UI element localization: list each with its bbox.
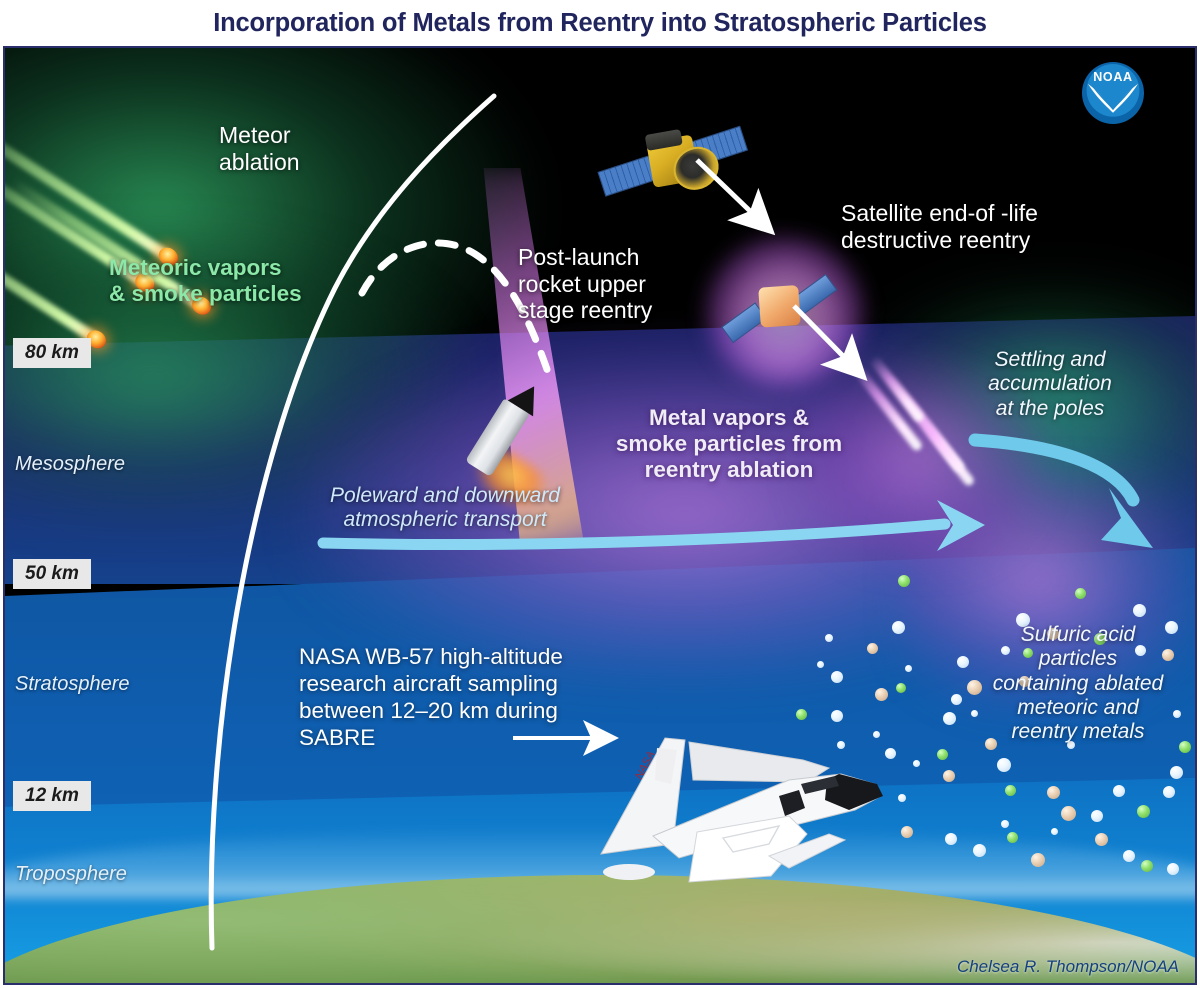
particle [937, 749, 948, 760]
layer-label-troposphere: Troposphere [15, 863, 127, 886]
particle [1031, 853, 1045, 867]
particle [1179, 741, 1191, 753]
particle [1133, 604, 1146, 617]
particle [885, 748, 896, 759]
particle [905, 665, 912, 672]
particle [1095, 833, 1108, 846]
particle [831, 671, 843, 683]
particle [951, 694, 962, 705]
particle [1123, 850, 1135, 862]
particle [945, 833, 957, 845]
title-bar: Incorporation of Metals from Reentry int… [0, 0, 1200, 46]
particle [875, 688, 888, 701]
annotation-sulfuric-acid-particles: Sulfuric acid particles containing ablat… [983, 623, 1173, 745]
altitude-marker-50km: 50 km [13, 559, 91, 589]
particle [796, 709, 807, 720]
annotation-satellite-end-of-life: Satellite end-of -life destructive reent… [841, 200, 1038, 253]
page-title: Incorporation of Metals from Reentry int… [213, 9, 986, 38]
particle [896, 683, 906, 693]
particle [943, 712, 956, 725]
particle [973, 844, 986, 857]
particle [1170, 766, 1183, 779]
particle [901, 826, 913, 838]
figure-frame: NASA [3, 46, 1197, 985]
particle [825, 634, 833, 642]
particle [1091, 810, 1103, 822]
noaa-logo[interactable]: NOAA [1080, 60, 1146, 126]
particle [898, 575, 910, 587]
annotation-settling-accumulation: Settling and accumulation at the poles [980, 348, 1120, 421]
annotation-meteor-ablation: Meteor ablation [219, 122, 300, 175]
particle [943, 770, 955, 782]
solar-panel-left [597, 155, 656, 196]
nasa-wb57-aircraft: NASA [593, 724, 893, 884]
particle [967, 680, 982, 695]
particle [1167, 863, 1179, 875]
particle [831, 710, 843, 722]
particle [1075, 588, 1086, 599]
noaa-logo-text: NOAA [1093, 70, 1133, 84]
infographic-page: Incorporation of Metals from Reentry int… [0, 0, 1200, 988]
particle [1137, 805, 1150, 818]
particle [1061, 806, 1076, 821]
particle [1163, 786, 1175, 798]
particle [892, 621, 905, 634]
annotation-poleward-transport: Poleward and downward atmospheric transp… [330, 484, 560, 533]
altitude-marker-80km: 80 km [13, 338, 91, 368]
particle [971, 710, 978, 717]
annotation-metal-vapors: Metal vapors & smoke particles from reen… [609, 405, 849, 483]
particle [898, 794, 906, 802]
particle [1141, 860, 1153, 872]
particle [1001, 820, 1009, 828]
altitude-marker-12km: 12 km [13, 781, 91, 811]
particle [837, 741, 845, 749]
particle [873, 731, 880, 738]
annotation-wb57-sampling: NASA WB-57 high-altitude research aircra… [299, 643, 563, 751]
particle [1047, 786, 1060, 799]
annotation-meteoric-vapors: Meteoric vapors & smoke particles [109, 255, 302, 307]
particle [1005, 785, 1016, 796]
particle [1173, 710, 1181, 718]
particle [997, 758, 1011, 772]
atmosphere-scene: NASA [5, 48, 1195, 983]
particle [1007, 832, 1018, 843]
particle [817, 661, 824, 668]
particle [867, 643, 878, 654]
annotation-post-launch-reentry: Post-launch rocket upper stage reentry [518, 244, 652, 324]
particle [1113, 785, 1125, 797]
particle [957, 656, 969, 668]
particle [913, 760, 920, 767]
image-credit: Chelsea R. Thompson/NOAA [957, 957, 1179, 977]
particle [1051, 828, 1058, 835]
layer-label-mesosphere: Mesosphere [15, 453, 125, 476]
layer-label-stratosphere: Stratosphere [15, 673, 130, 696]
